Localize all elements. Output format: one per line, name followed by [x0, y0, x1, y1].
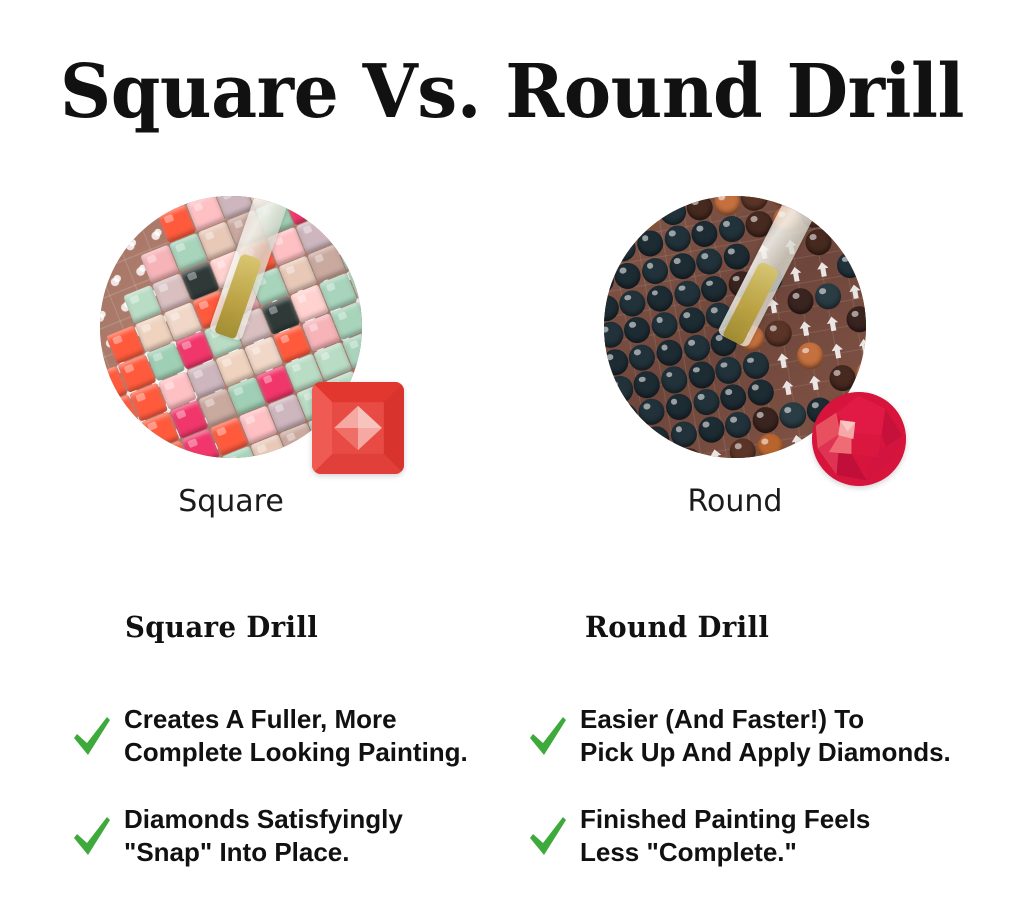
list-item-label: Finished Painting Feels Less "Complete."	[580, 803, 870, 869]
round-drill-bead	[649, 310, 679, 340]
round-drill-bead	[681, 333, 711, 363]
round-drill-bead	[677, 305, 707, 335]
round-gem-facets	[812, 392, 906, 486]
round-drill-bead	[613, 261, 643, 291]
round-drill-bead	[728, 437, 758, 458]
round-drill-bead	[654, 337, 684, 367]
square-gem-facets	[312, 382, 404, 474]
round-drill-bead	[768, 345, 798, 375]
round-drill-bead	[741, 350, 771, 380]
round-drill-bead	[782, 427, 812, 457]
round-drill-bead	[691, 387, 721, 417]
square-drill-benefits-list: Creates A Fuller, More Complete Looking …	[72, 694, 512, 894]
round-drill-bead	[795, 341, 825, 371]
round-drill-bead	[662, 224, 692, 254]
round-drill-bead	[604, 320, 625, 350]
round-drill-bead	[604, 293, 621, 323]
round-drill-bead	[645, 283, 675, 313]
round-drill-bead	[827, 363, 857, 393]
round-drill-bead	[694, 246, 724, 276]
round-drill-panel: Round	[600, 196, 930, 496]
round-drill-bead	[622, 315, 652, 345]
round-drill-bead	[635, 229, 665, 259]
round-drill-bead	[803, 227, 833, 257]
round-drill-bead	[696, 414, 726, 444]
round-drill-bead	[699, 273, 729, 303]
round-drill-bead	[723, 409, 753, 439]
round-drill-bead	[609, 401, 639, 431]
round-drill-bead	[750, 405, 780, 435]
round-drill-bead	[627, 342, 657, 372]
round-drill-bead	[637, 397, 667, 427]
round-drill-bead	[813, 281, 843, 311]
round-drill-bead	[862, 245, 866, 275]
round-drill-bead	[664, 392, 694, 422]
round-drill-bead	[646, 451, 676, 458]
round-drill-bead	[640, 256, 670, 286]
list-item: Creates A Fuller, More Complete Looking …	[72, 694, 512, 778]
round-drill-bead	[817, 309, 847, 339]
round-drill-bead	[657, 197, 687, 227]
round-drill-bead	[840, 277, 866, 307]
square-gem	[312, 382, 404, 474]
round-drill-bead	[604, 206, 633, 236]
round-drill-bead	[672, 278, 702, 308]
round-drill-bead	[763, 318, 793, 348]
round-drill-bead	[659, 365, 689, 395]
round-drill-bead	[777, 400, 807, 430]
round-drill-bead	[617, 288, 647, 318]
check-icon	[528, 814, 568, 858]
round-drill-bead	[849, 331, 866, 361]
round-drill-bead	[689, 219, 719, 249]
round-drill-bead	[605, 374, 635, 404]
round-drill-bead	[604, 265, 616, 295]
round-drill-bead	[858, 217, 866, 247]
round-drill-bead	[625, 196, 655, 204]
check-icon	[528, 714, 568, 758]
round-drill-bead	[830, 222, 860, 252]
round-drill-bead	[604, 406, 612, 436]
round-drill-bead	[701, 441, 731, 458]
round-drill-bead	[785, 286, 815, 316]
round-gem	[812, 392, 906, 486]
square-drill-panel: Square	[100, 196, 430, 496]
round-drill-bead	[608, 233, 638, 263]
check-icon	[72, 814, 112, 858]
round-drill-benefits-list: Easier (And Faster!) To Pick Up And Appl…	[528, 694, 968, 894]
round-drill-bead	[641, 424, 671, 454]
list-item-label: Creates A Fuller, More Complete Looking …	[124, 703, 468, 769]
round-drill-bead	[712, 196, 742, 217]
check-icon	[72, 714, 112, 758]
round-drill-bead	[713, 355, 743, 385]
list-item: Finished Painting Feels Less "Complete."	[528, 794, 968, 878]
round-drill-bead	[673, 446, 703, 458]
page-title: Square Vs. Round Drill	[20, 48, 1003, 136]
round-drill-bead	[669, 419, 699, 449]
round-drill-bead	[854, 358, 866, 388]
round-drill-bead	[739, 196, 769, 213]
round-drill-bead	[845, 304, 866, 334]
round-drill-bead	[604, 196, 629, 209]
round-drill-bead	[630, 201, 660, 231]
list-item-label: Easier (And Faster!) To Pick Up And Appl…	[580, 703, 951, 769]
round-caption: Round	[604, 483, 866, 521]
round-drill-bead	[745, 377, 775, 407]
list-item: Easier (And Faster!) To Pick Up And Appl…	[528, 694, 968, 778]
square-drill-heading: Square Drill	[125, 610, 318, 644]
round-drill-bead	[667, 251, 697, 281]
round-drill-bead	[604, 433, 617, 458]
list-item-label: Diamonds Satisfyingly "Snap" Into Place.	[124, 803, 403, 869]
round-drill-bead	[808, 254, 838, 284]
round-drill-bead	[822, 336, 852, 366]
round-drill-bead	[835, 249, 865, 279]
round-drill-bead	[718, 382, 748, 412]
round-drill-bead	[790, 313, 820, 343]
list-item: Diamonds Satisfyingly "Snap" Into Place.	[72, 794, 512, 878]
round-drill-bead	[717, 214, 747, 244]
round-drill-heading: Round Drill	[585, 610, 769, 644]
round-drill-bead	[721, 241, 751, 271]
round-drill-bead	[604, 347, 630, 377]
square-caption: Square	[100, 483, 362, 521]
round-drill-bead	[853, 196, 866, 221]
round-drill-bead	[826, 196, 856, 225]
round-drill-bead	[773, 373, 803, 403]
round-drill-bead	[755, 432, 785, 458]
round-drill-bead	[614, 429, 644, 458]
round-drill-bead	[632, 369, 662, 399]
round-drill-bead	[685, 196, 715, 222]
round-drill-bead	[686, 360, 716, 390]
